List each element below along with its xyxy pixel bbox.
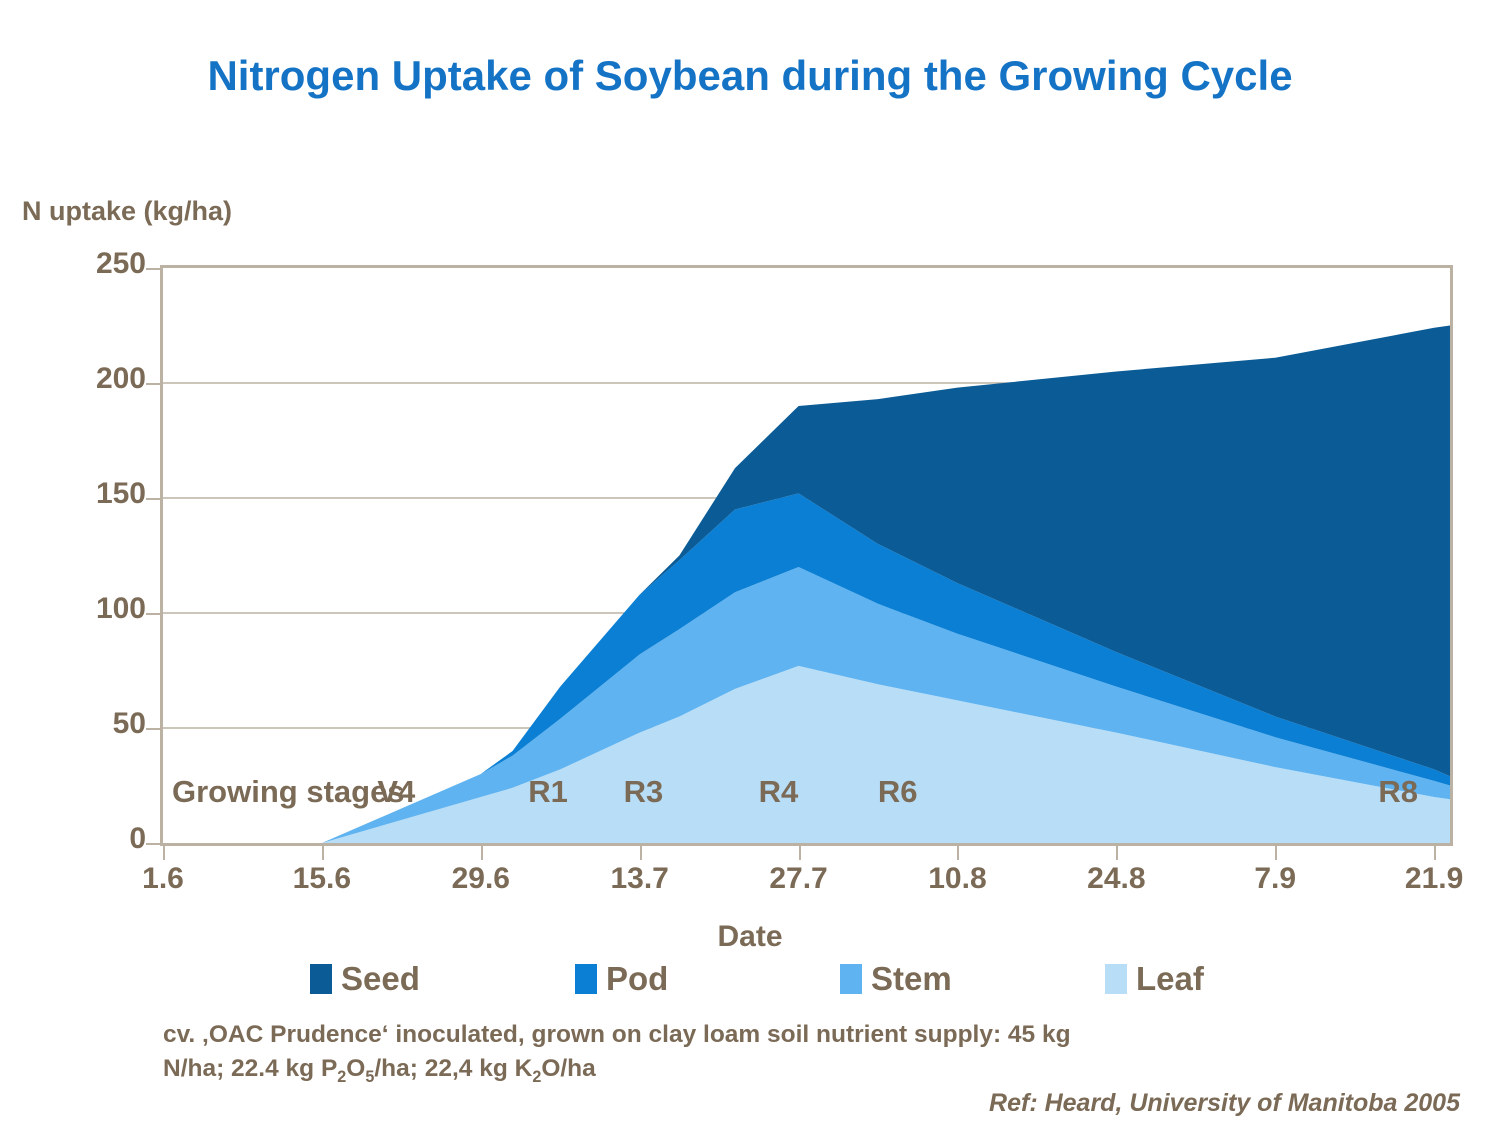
y-tick-mark [146,268,160,270]
x-tick-mark [322,846,324,860]
legend-item-seed[interactable]: Seed [310,962,575,995]
pod-swatch [575,964,597,994]
legend-label: Pod [606,962,668,995]
legend-item-leaf[interactable]: Leaf [1105,962,1370,995]
stem-swatch [840,964,862,994]
x-tick-mark [163,846,165,860]
footnote-sub-p2: 2 [337,1068,346,1086]
footnote-line-1: cv. ‚OAC Prudence‘ inoculated, grown on … [163,1021,1071,1048]
x-tick-mark [481,846,483,860]
chart-legend: SeedPodStemLeaf [310,962,1370,995]
y-tick-label: 100 [18,592,146,626]
y-tick-mark [146,498,160,500]
y-tick-label: 0 [18,822,146,856]
y-tick-mark [146,613,160,615]
footnote-line-2: N/ha; 22.4 kg P2O5/ha; 22,4 kg K2O/ha [163,1055,596,1082]
x-tick-label: 24.8 [1087,862,1145,896]
y-tick-label: 200 [18,362,146,396]
legend-item-stem[interactable]: Stem [840,962,1105,995]
footnote-line2-mid1: O [346,1055,365,1082]
x-tick-label: 7.9 [1254,862,1296,896]
page-title: Nitrogen Uptake of Soybean during the Gr… [0,52,1500,100]
x-tick-mark [1116,846,1118,860]
x-tick-mark [799,846,801,860]
x-tick-label: 13.7 [610,862,668,896]
footnote-line2-pre: N/ha; 22.4 kg P [163,1055,337,1082]
x-tick-label: 29.6 [452,862,510,896]
x-tick-label: 27.7 [769,862,827,896]
y-tick-mark [146,843,160,845]
footnote-line2-mid2: /ha; 22,4 kg K [374,1055,532,1082]
footnote-text: cv. ‚OAC Prudence‘ inoculated, grown on … [163,1018,1433,1088]
legend-item-pod[interactable]: Pod [575,962,840,995]
x-tick-mark [640,846,642,860]
x-tick-label: 15.6 [293,862,351,896]
x-axis-title: Date [0,920,1500,954]
footnote-sub-k2: 2 [532,1068,541,1086]
footnote-sub-o5: 5 [365,1068,374,1086]
x-tick-mark [1275,846,1277,860]
legend-label: Stem [871,962,952,995]
y-tick-mark [146,728,160,730]
reference-citation: Ref: Heard, University of Manitoba 2005 [989,1089,1460,1118]
y-tick-label: 50 [18,707,146,741]
x-tick-label: 1.6 [142,862,184,896]
leaf-swatch [1105,964,1127,994]
x-tick-label: 21.9 [1405,862,1463,896]
y-tick-label: 250 [18,247,146,281]
x-tick-mark [957,846,959,860]
legend-label: Seed [341,962,420,995]
seed-swatch [310,964,332,994]
x-axis-tick-group: 1.615.629.613.727.710.824.87.921.9 [0,862,1500,912]
legend-label: Leaf [1136,962,1204,995]
footnote-line2-end: O/ha [541,1055,595,1082]
y-tick-mark [146,383,160,385]
y-tick-label: 150 [18,477,146,511]
stacked-area-chart [163,268,1450,843]
x-tick-mark [1434,846,1436,860]
y-axis-tick-group: 050100150200250 [0,0,146,1126]
x-tick-label: 10.8 [928,862,986,896]
